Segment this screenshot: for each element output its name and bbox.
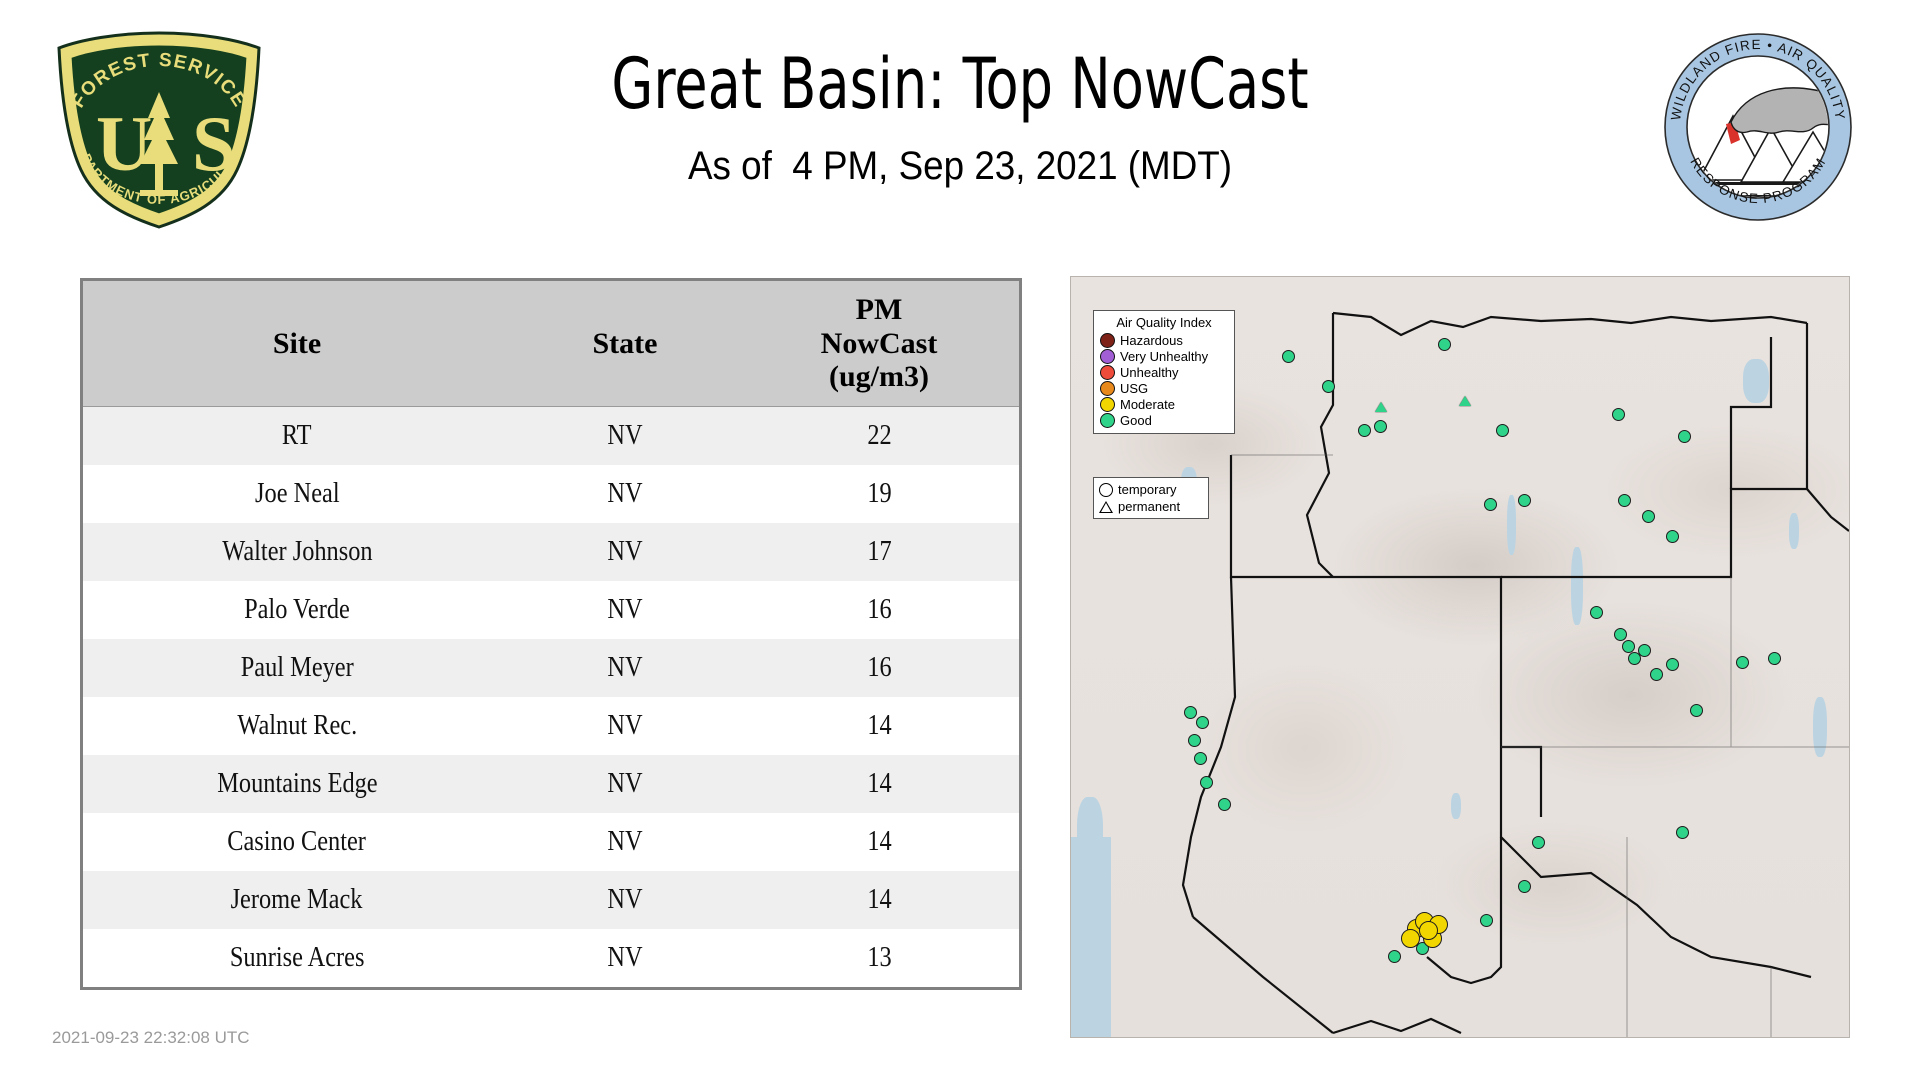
legend-swatch-icon <box>1100 397 1115 412</box>
wildland-fire-air-quality-response-program-logo: WILDLAND FIRE • AIR QUALITY RESPONSE PRO… <box>1663 32 1853 222</box>
monitor-marker-temporary[interactable] <box>1736 656 1749 669</box>
monitor-marker-temporary[interactable] <box>1196 716 1209 729</box>
monitor-marker-permanent[interactable] <box>1459 396 1471 406</box>
table-cell-state: NV <box>511 929 739 989</box>
column-header-pm-nowcast: PM NowCast (ug/m3) <box>739 280 1021 407</box>
monitor-marker-temporary[interactable] <box>1768 652 1781 665</box>
legend-type-label-temporary: temporary <box>1118 482 1177 497</box>
legend-label: Very Unhealthy <box>1120 350 1208 363</box>
monitor-marker-temporary[interactable] <box>1690 704 1703 717</box>
monitor-marker-temporary[interactable] <box>1666 658 1679 671</box>
monitor-marker-temporary[interactable] <box>1401 929 1420 948</box>
table-cell-pm: 16 <box>739 639 1021 697</box>
monitor-marker-temporary[interactable] <box>1438 338 1451 351</box>
monitor-marker-temporary[interactable] <box>1622 640 1635 653</box>
table-row: Walnut Rec.NV14 <box>82 697 1021 755</box>
monitor-marker-temporary[interactable] <box>1188 734 1201 747</box>
legend-swatch-icon <box>1100 381 1115 396</box>
monitor-marker-temporary[interactable] <box>1590 606 1603 619</box>
monitor-marker-temporary[interactable] <box>1496 424 1509 437</box>
legend-swatch-icon <box>1100 349 1115 364</box>
legend-air-quality-index: Air Quality Index HazardousVery Unhealth… <box>1093 310 1235 434</box>
monitor-marker-temporary[interactable] <box>1532 836 1545 849</box>
legend-monitor-type: temporary permanent <box>1093 477 1209 519</box>
table-cell-pm: 17 <box>739 523 1021 581</box>
legend-items: HazardousVery UnhealthyUnhealthyUSGModer… <box>1100 332 1228 428</box>
column-header-site: Site <box>82 280 512 407</box>
table-cell-site: Walnut Rec. <box>82 697 512 755</box>
monitor-marker-temporary[interactable] <box>1666 530 1679 543</box>
table-row: Joe NealNV19 <box>82 465 1021 523</box>
table-cell-state: NV <box>511 755 739 813</box>
monitor-marker-temporary[interactable] <box>1678 430 1691 443</box>
table-row: Casino CenterNV14 <box>82 813 1021 871</box>
table-cell-site: Mountains Edge <box>82 755 512 813</box>
legend-swatch-icon <box>1100 333 1115 348</box>
page-header: FOREST SERVICE U S DEPARTMENT OF AGRICUL… <box>0 0 1920 270</box>
monitor-marker-temporary[interactable] <box>1484 498 1497 511</box>
table-cell-site: RT <box>82 406 512 465</box>
monitor-marker-temporary[interactable] <box>1322 380 1335 393</box>
legend-title: Air Quality Index <box>1100 315 1228 330</box>
table-cell-site: Palo Verde <box>82 581 512 639</box>
legend-label: Unhealthy <box>1120 366 1179 379</box>
legend-row-good: Good <box>1100 412 1228 428</box>
legend-type-row-temporary: temporary <box>1099 481 1203 498</box>
legend-type-label-permanent: permanent <box>1118 499 1180 514</box>
table-body: RTNV22Joe NealNV19Walter JohnsonNV17Palo… <box>82 406 1021 988</box>
monitor-marker-temporary[interactable] <box>1676 826 1689 839</box>
legend-row-usg: USG <box>1100 380 1228 396</box>
table-cell-pm: 14 <box>739 871 1021 929</box>
table-cell-state: NV <box>511 581 739 639</box>
monitor-marker-permanent[interactable] <box>1375 402 1387 412</box>
monitor-marker-temporary[interactable] <box>1388 950 1401 963</box>
table-cell-pm: 14 <box>739 755 1021 813</box>
permanent-monitor-icon <box>1099 501 1113 513</box>
usfs-shield-logo: FOREST SERVICE U S DEPARTMENT OF AGRICUL… <box>52 30 267 230</box>
nowcast-table-container: Site State PM NowCast (ug/m3) RTNV22Joe … <box>80 278 992 990</box>
page-title: Great Basin: Top NowCast <box>392 48 1527 122</box>
table-cell-site: Walter Johnson <box>82 523 512 581</box>
nowcast-table: Site State PM NowCast (ug/m3) RTNV22Joe … <box>80 278 1022 990</box>
monitor-marker-temporary[interactable] <box>1612 408 1625 421</box>
monitor-marker-temporary[interactable] <box>1200 776 1213 789</box>
legend-row-very-unhealthy: Very Unhealthy <box>1100 348 1228 364</box>
table-row: Paul MeyerNV16 <box>82 639 1021 697</box>
table-cell-state: NV <box>511 406 739 465</box>
monitor-marker-temporary[interactable] <box>1184 706 1197 719</box>
title-block: Great Basin: Top NowCast As of 4 PM, Sep… <box>300 48 1620 189</box>
table-cell-site: Sunrise Acres <box>82 929 512 989</box>
monitor-marker-temporary[interactable] <box>1218 798 1231 811</box>
table-row: Palo VerdeNV16 <box>82 581 1021 639</box>
table-cell-pm: 14 <box>739 813 1021 871</box>
monitor-marker-temporary[interactable] <box>1194 752 1207 765</box>
footer-timestamp: 2021-09-23 22:32:08 UTC <box>52 1028 250 1048</box>
monitor-marker-temporary[interactable] <box>1480 914 1493 927</box>
table-cell-pm: 13 <box>739 929 1021 989</box>
legend-row-hazardous: Hazardous <box>1100 332 1228 348</box>
table-cell-state: NV <box>511 813 739 871</box>
page-subtitle: As of 4 PM, Sep 23, 2021 (MDT) <box>353 144 1567 189</box>
monitor-marker-temporary[interactable] <box>1650 668 1663 681</box>
monitor-marker-temporary[interactable] <box>1638 644 1651 657</box>
legend-row-moderate: Moderate <box>1100 396 1228 412</box>
table-row: Sunrise AcresNV13 <box>82 929 1021 989</box>
column-header-pm-line2: NowCast <box>743 327 1015 361</box>
monitor-marker-temporary[interactable] <box>1642 510 1655 523</box>
column-header-pm-line1: PM <box>743 293 1015 327</box>
monitor-marker-temporary[interactable] <box>1374 420 1387 433</box>
legend-swatch-icon <box>1100 365 1115 380</box>
table-row: Jerome MackNV14 <box>82 871 1021 929</box>
monitor-marker-temporary[interactable] <box>1518 880 1531 893</box>
table-row: RTNV22 <box>82 406 1021 465</box>
monitor-marker-temporary[interactable] <box>1282 350 1295 363</box>
table-cell-pm: 19 <box>739 465 1021 523</box>
legend-swatch-icon <box>1100 413 1115 428</box>
legend-label: Moderate <box>1120 398 1175 411</box>
legend-label: Good <box>1120 414 1152 427</box>
monitor-marker-temporary[interactable] <box>1419 921 1438 940</box>
monitor-marker-temporary[interactable] <box>1614 628 1627 641</box>
table-cell-state: NV <box>511 465 739 523</box>
table-row: Mountains EdgeNV14 <box>82 755 1021 813</box>
monitor-marker-temporary[interactable] <box>1358 424 1371 437</box>
column-header-state: State <box>511 280 739 407</box>
table-cell-state: NV <box>511 697 739 755</box>
table-cell-state: NV <box>511 639 739 697</box>
table-header-row: Site State PM NowCast (ug/m3) <box>82 280 1021 407</box>
table-cell-pm: 22 <box>739 406 1021 465</box>
table-cell-pm: 16 <box>739 581 1021 639</box>
legend-row-unhealthy: Unhealthy <box>1100 364 1228 380</box>
table-cell-site: Paul Meyer <box>82 639 512 697</box>
table-cell-state: NV <box>511 523 739 581</box>
monitor-marker-temporary[interactable] <box>1518 494 1531 507</box>
table-cell-state: NV <box>511 871 739 929</box>
legend-label: USG <box>1120 382 1148 395</box>
column-header-pm-line3: (ug/m3) <box>743 360 1015 394</box>
legend-type-row-permanent: permanent <box>1099 498 1203 515</box>
table-cell-site: Casino Center <box>82 813 512 871</box>
table-cell-pm: 14 <box>739 697 1021 755</box>
table-cell-site: Jerome Mack <box>82 871 512 929</box>
temporary-monitor-icon <box>1099 483 1113 497</box>
table-row: Walter JohnsonNV17 <box>82 523 1021 581</box>
legend-label: Hazardous <box>1120 334 1183 347</box>
air-quality-map[interactable]: Air Quality Index HazardousVery Unhealth… <box>1070 276 1850 1038</box>
table-cell-site: Joe Neal <box>82 465 512 523</box>
monitor-marker-temporary[interactable] <box>1618 494 1631 507</box>
